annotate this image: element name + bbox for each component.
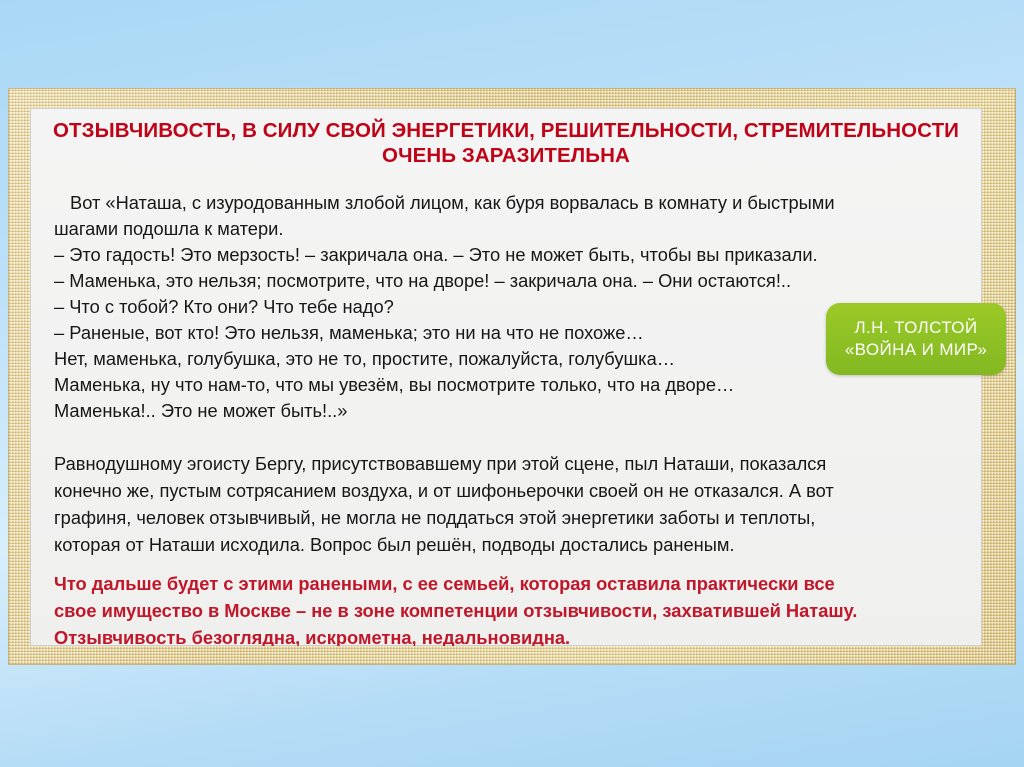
attribution-author: Л.Н. ТОЛСТОЙ — [855, 317, 978, 339]
content-panel: ОТЗЫВЧИВОСТЬ, В СИЛУ СВОЙ ЭНЕРГЕТИКИ, РЕ… — [30, 108, 982, 646]
attribution-work: «ВОЙНА И МИР» — [845, 339, 987, 361]
commentary-block: Равнодушному эгоисту Бергу, присутствова… — [54, 450, 982, 558]
conclusion-line-1: Что дальше будет с этими ранеными, с ее … — [54, 570, 982, 597]
quote-line-1: Вот «Наташа, с изуродованным злобой лицо… — [54, 190, 974, 216]
quote-line-8: Маменька, ну что нам-то, что мы увезём, … — [54, 372, 974, 398]
quote-line-3: – Это гадость! Это мерзость! – закричала… — [54, 242, 974, 268]
quote-line-9: Маменька!.. Это не может быть!..» — [54, 398, 974, 424]
quote-line-4: – Маменька, это нельзя; посмотрите, что … — [54, 268, 974, 294]
page-title: ОТЗЫВЧИВОСТЬ, В СИЛУ СВОЙ ЭНЕРГЕТИКИ, РЕ… — [30, 118, 982, 168]
quote-line-2: шагами подошла к матери. — [54, 216, 974, 242]
conclusion-line-3: Отзывчивость безоглядна, искрометна, нед… — [54, 624, 982, 646]
attribution-badge: Л.Н. ТОЛСТОЙ «ВОЙНА И МИР» — [826, 303, 1006, 375]
commentary-line-1: Равнодушному эгоисту Бергу, присутствова… — [54, 450, 982, 477]
conclusion-block: Что дальше будет с этими ранеными, с ее … — [54, 570, 982, 646]
title-line-1: ОТЗЫВЧИВОСТЬ, В СИЛУ СВОЙ ЭНЕРГЕТИКИ, РЕ… — [30, 118, 982, 143]
burlap-frame: ОТЗЫВЧИВОСТЬ, В СИЛУ СВОЙ ЭНЕРГЕТИКИ, РЕ… — [8, 88, 1016, 665]
conclusion-line-2: свое имущество в Москве – не в зоне комп… — [54, 597, 982, 624]
slide: ОТЗЫВЧИВОСТЬ, В СИЛУ СВОЙ ЭНЕРГЕТИКИ, РЕ… — [0, 0, 1024, 767]
commentary-line-3: графиня, человек отзывчивый, не могла не… — [54, 504, 982, 531]
commentary-line-4: которая от Наташи исходила. Вопрос был р… — [54, 531, 982, 558]
commentary-line-2: конечно же, пустым сотрясанием воздуха, … — [54, 477, 982, 504]
title-line-2: ОЧЕНЬ ЗАРАЗИТЕЛЬНА — [30, 143, 982, 168]
